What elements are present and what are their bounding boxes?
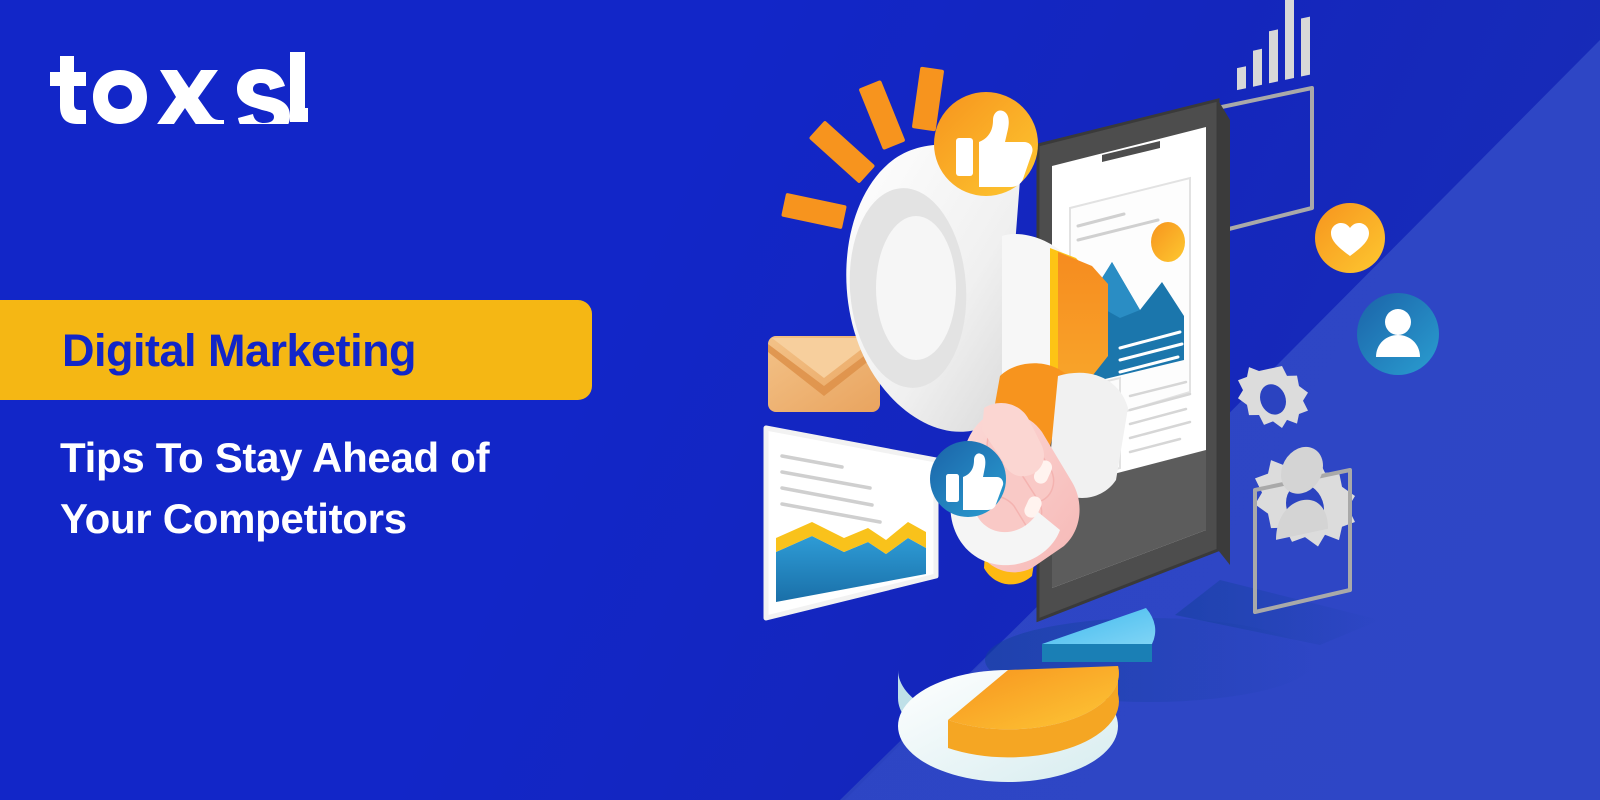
bar-chart-card[interactable] [1217, 0, 1312, 232]
thumbs-up-orange-badge[interactable] [934, 92, 1038, 196]
marketing-banner: Digital Marketing Tips To Stay Ahead of … [0, 0, 1600, 800]
line-chart-card[interactable] [766, 428, 936, 618]
thumbs-up-blue-badge[interactable] [930, 441, 1006, 517]
toxsl-logo[interactable] [48, 52, 308, 122]
subtitle-line-2: Your Competitors [60, 489, 660, 550]
subtitle-line-1: Tips To Stay Ahead of [60, 428, 660, 489]
heart-badge[interactable] [1315, 203, 1385, 273]
sun-icon [1151, 222, 1185, 262]
page-subtitle: Tips To Stay Ahead of Your Competitors [60, 428, 660, 550]
user-badge[interactable] [1357, 293, 1439, 375]
illustration-stage [720, 60, 1460, 760]
badge-label: Digital Marketing [62, 328, 416, 373]
digital-marketing-badge: Digital Marketing [0, 300, 592, 400]
gear-small-icon [1238, 358, 1308, 432]
bar-chart-bars [1237, 0, 1310, 90]
